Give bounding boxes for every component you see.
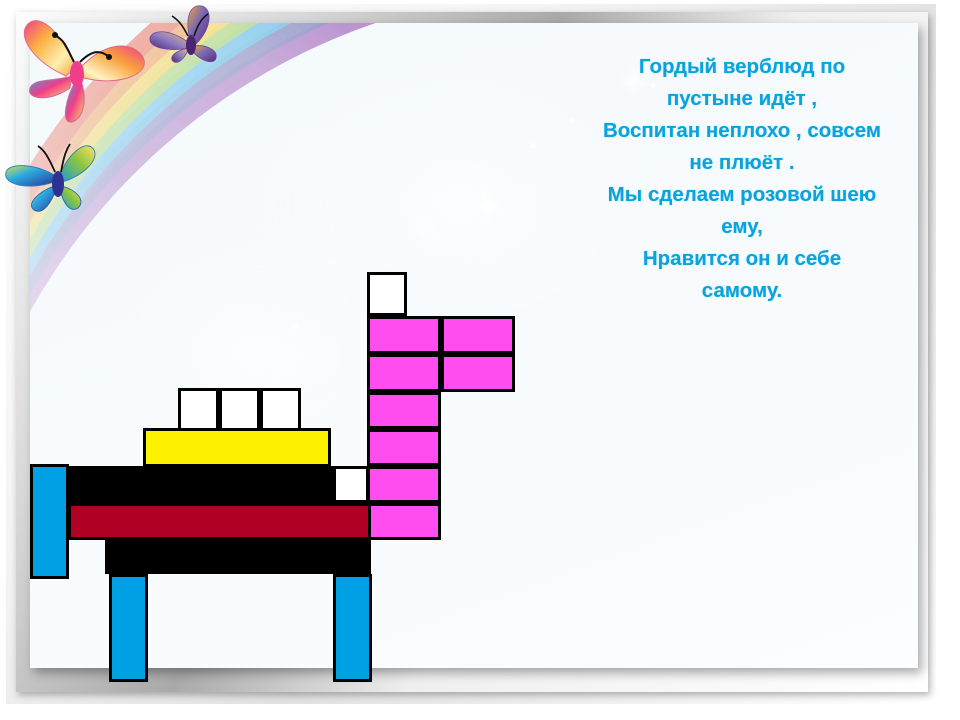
butterfly-blue-green-icon — [2, 128, 114, 222]
butterfly-purple-blue-icon — [144, 2, 230, 72]
hump-white-2 — [219, 388, 260, 431]
shoulder-white — [333, 466, 369, 503]
jaw-pink-right — [441, 354, 515, 392]
tail-blue — [30, 464, 69, 579]
neck-pink-1 — [367, 392, 441, 429]
body-black-upper — [68, 466, 333, 503]
neck-pink-3 — [367, 466, 441, 503]
back-yellow — [143, 428, 331, 467]
leg-front-blue — [109, 574, 148, 682]
body-red — [68, 503, 371, 540]
belly-black — [105, 540, 371, 574]
head-pink-right — [441, 316, 515, 354]
neck-pink-2 — [367, 429, 441, 466]
slide-canvas: Гордый верблюд по пустыне идёт , Воспита… — [0, 0, 960, 720]
head-pink-left — [367, 316, 441, 354]
neck-pink-4 — [367, 503, 441, 540]
ear-white — [367, 272, 407, 316]
jaw-pink-left — [367, 354, 441, 392]
hump-white-3 — [260, 388, 301, 431]
hump-white-1 — [178, 388, 219, 431]
leg-rear-blue — [333, 574, 372, 682]
